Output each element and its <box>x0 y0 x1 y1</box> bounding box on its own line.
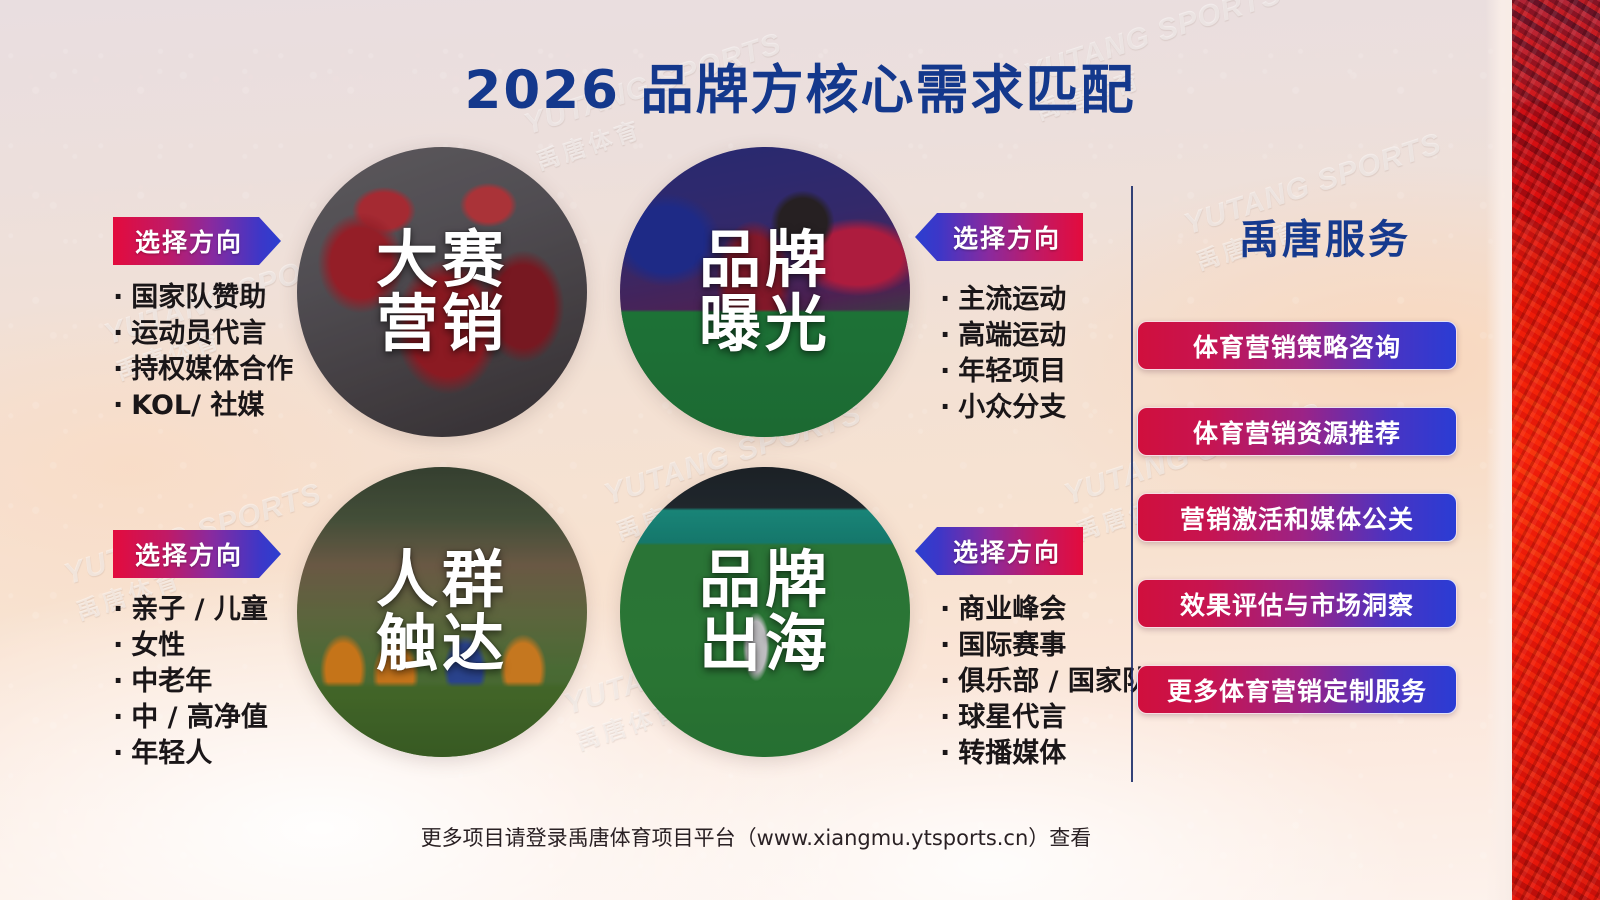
circle-audience-reach[interactable]: 人群触达 <box>297 467 587 757</box>
circle-label: 大赛营销 <box>376 228 508 357</box>
circle-label: 品牌出海 <box>699 548 831 677</box>
direction-list-contest-marketing: 国家队赞助 运动员代言 持权媒体合作 KOL/ 社媒 <box>113 280 303 424</box>
list-item: 商业峰会 <box>940 592 1140 628</box>
list-item: 年轻人 <box>113 736 313 772</box>
services-title: 禹唐服务 <box>1160 207 1490 265</box>
red-texture-strip <box>1512 0 1600 900</box>
circle-brand-exposure[interactable]: 品牌曝光 <box>620 147 910 437</box>
list-item: 女性 <box>113 628 313 664</box>
list-item: 国际赛事 <box>940 628 1140 664</box>
footer-note: 更多项目请登录禹唐体育项目平台（www.xiangmu.ytsports.cn）… <box>0 822 1512 852</box>
direction-banner-brand-overseas[interactable]: 选择方向 <box>915 527 1083 575</box>
list-item: 转播媒体 <box>940 736 1140 772</box>
circle-label: 人群触达 <box>376 548 508 677</box>
list-item: 持权媒体合作 <box>113 352 303 388</box>
list-item: 主流运动 <box>940 282 1130 318</box>
direction-list-audience-reach: 亲子 / 儿童 女性 中老年 中 / 高净值 年轻人 <box>113 592 313 772</box>
direction-banner-brand-exposure[interactable]: 选择方向 <box>915 213 1083 261</box>
list-item: 球星代言 <box>940 700 1140 736</box>
background-strip-edge <box>1486 0 1512 900</box>
list-item: 国家队赞助 <box>113 280 303 316</box>
circle-label: 品牌曝光 <box>699 228 831 357</box>
direction-banner-contest-marketing[interactable]: 选择方向 <box>113 217 281 265</box>
direction-list-brand-overseas: 商业峰会 国际赛事 俱乐部 / 国家队 球星代言 转播媒体 <box>940 592 1140 772</box>
service-pill-custom-services[interactable]: 更多体育营销定制服务 <box>1137 665 1457 714</box>
list-item: 俱乐部 / 国家队 <box>940 664 1140 700</box>
list-item: 高端运动 <box>940 318 1130 354</box>
service-pill-effect-evaluation[interactable]: 效果评估与市场洞察 <box>1137 579 1457 628</box>
list-item: 年轻项目 <box>940 354 1130 390</box>
list-item: 中 / 高净值 <box>113 700 313 736</box>
service-pill-strategy-consulting[interactable]: 体育营销策略咨询 <box>1137 321 1457 370</box>
list-item: 运动员代言 <box>113 316 303 352</box>
slide-canvas: YUTANG SPORTS禹唐体育 YUTANG SPORTS禹唐体育 YUTA… <box>0 0 1600 900</box>
list-item: 小众分支 <box>940 390 1130 426</box>
service-pill-activation-and-pr[interactable]: 营销激活和媒体公关 <box>1137 493 1457 542</box>
service-pill-resource-recommendation[interactable]: 体育营销资源推荐 <box>1137 407 1457 456</box>
direction-banner-audience-reach[interactable]: 选择方向 <box>113 530 281 578</box>
panel-divider <box>1131 186 1133 782</box>
circle-brand-overseas[interactable]: 品牌出海 <box>620 467 910 757</box>
page-title: 2026 品牌方核心需求匹配 <box>0 48 1600 124</box>
direction-list-brand-exposure: 主流运动 高端运动 年轻项目 小众分支 <box>940 282 1130 426</box>
list-item: 中老年 <box>113 664 313 700</box>
list-item: 亲子 / 儿童 <box>113 592 313 628</box>
circle-contest-marketing[interactable]: 大赛营销 <box>297 147 587 437</box>
list-item: KOL/ 社媒 <box>113 388 303 424</box>
